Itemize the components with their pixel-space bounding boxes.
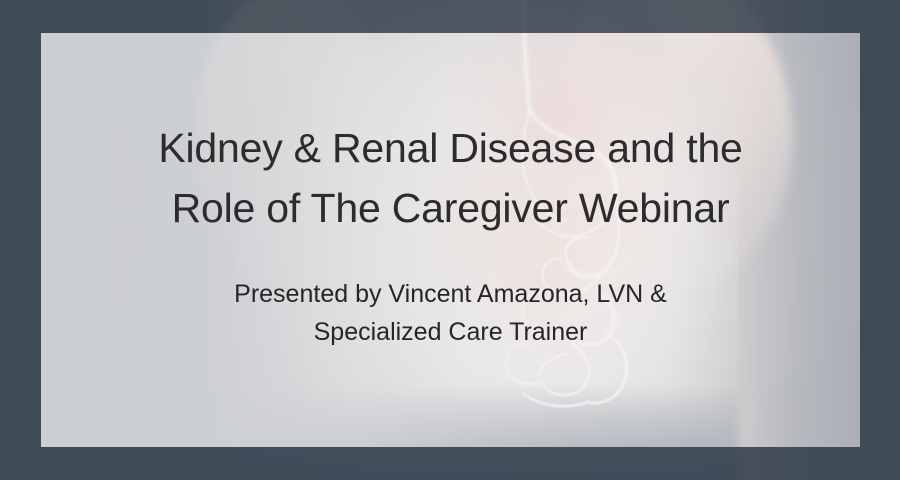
presenter-subtitle: Presented by Vincent Amazona, LVN & Spec… (141, 275, 761, 351)
content-panel: Kidney & Renal Disease and the Role of T… (41, 33, 860, 447)
page-title: Kidney & Renal Disease and the Role of T… (91, 119, 811, 239)
webinar-banner: Kidney & Renal Disease and the Role of T… (0, 0, 900, 480)
